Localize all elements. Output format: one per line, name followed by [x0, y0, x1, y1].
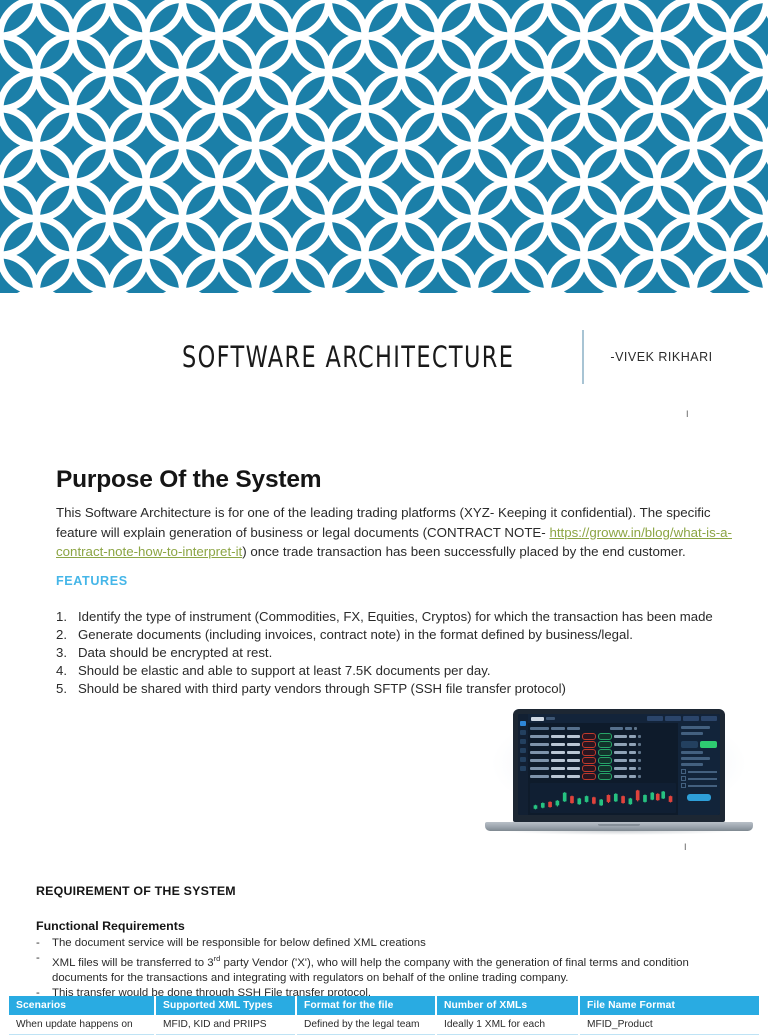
- list-item-text: Should be elastic and able to support at…: [78, 662, 491, 679]
- cell-instrument: [530, 767, 549, 770]
- table-row: When update happens on MFID, KID and PRI…: [9, 1015, 759, 1035]
- scenarios-table: Scenarios Supported XML Types Format for…: [9, 996, 759, 1035]
- cell-scenarios: When update happens on: [9, 1015, 155, 1035]
- cell-change: [629, 743, 636, 746]
- cell-ask: [567, 743, 580, 746]
- rail-icon-markets: [520, 730, 526, 735]
- cell-change: [629, 759, 636, 762]
- buy-button[interactable]: [700, 741, 717, 748]
- sell-pill[interactable]: [582, 749, 596, 756]
- cell-menu: [638, 743, 641, 746]
- quote-balance-4: [701, 716, 717, 721]
- laptop-screen: [518, 714, 720, 815]
- price-label: [681, 732, 703, 735]
- sell-pill[interactable]: [582, 741, 596, 748]
- list-item: 2. Generate documents (including invoice…: [56, 626, 736, 643]
- cell-last: [614, 751, 627, 754]
- checkbox-label: [688, 778, 717, 780]
- list-item-text: Identify the type of instrument (Commodi…: [78, 608, 713, 625]
- cell-ask: [567, 759, 580, 762]
- app-icon-rail: [518, 714, 528, 815]
- table-header-row: Scenarios Supported XML Types Format for…: [9, 996, 759, 1015]
- circle-lattice-pattern: [0, 0, 768, 293]
- place-order-button[interactable]: [687, 794, 710, 801]
- checkbox-partial-fill[interactable]: [681, 783, 717, 788]
- quote-balance-1: [647, 716, 663, 721]
- quote-balance-3: [683, 716, 699, 721]
- quote-balance-2: [665, 716, 681, 721]
- list-item-bullet: -: [36, 936, 52, 951]
- buy-pill[interactable]: [598, 765, 612, 772]
- list-item-number: 1.: [56, 608, 78, 625]
- sell-pill[interactable]: [582, 765, 596, 772]
- buy-pill[interactable]: [598, 741, 612, 748]
- list-item: 1. Identify the type of instrument (Comm…: [56, 608, 736, 625]
- cell-bid: [551, 767, 565, 770]
- buy-pill[interactable]: [598, 733, 612, 740]
- app-main-area: [528, 714, 720, 815]
- cell-bid: [551, 759, 565, 762]
- take-profit-label: [681, 763, 703, 766]
- page-tick-mark-bottom: I: [684, 843, 687, 852]
- rail-icon-dashboard: [520, 721, 526, 726]
- purpose-paragraph: This Software Architecture is for one of…: [56, 503, 732, 562]
- checkbox-box: [681, 776, 686, 781]
- instruments-table: [528, 723, 678, 781]
- candlestick-chart: [530, 783, 676, 813]
- author-byline: -VIVEK RIKHARI: [610, 350, 712, 364]
- cell-file-name-format: MFID_Product: [579, 1015, 759, 1035]
- cell-instrument: [530, 759, 549, 762]
- laptop-lid: [513, 709, 725, 822]
- list-item-text: Generate documents (including invoices, …: [78, 626, 633, 643]
- col-last: [610, 727, 623, 730]
- list-item: 4. Should be elastic and able to support…: [56, 662, 736, 679]
- purpose-heading: Purpose Of the System: [56, 466, 321, 494]
- checkbox-label: [688, 771, 717, 773]
- cell-bid: [551, 751, 565, 754]
- features-heading: FEATURES: [56, 574, 128, 588]
- cell-instrument: [530, 743, 549, 746]
- cell-last: [614, 767, 627, 770]
- checkbox-label: [688, 785, 717, 787]
- cell-menu: [638, 751, 641, 754]
- cell-instrument: [530, 751, 549, 754]
- table-header-row: [530, 725, 676, 732]
- list-item-text: The document service will be responsible…: [52, 936, 726, 951]
- table-row: [530, 749, 676, 756]
- cell-instrument: [530, 775, 549, 778]
- laptop-trading-platform-illustration: [477, 703, 761, 843]
- col-change: [625, 727, 632, 730]
- table-column-header-supported-xml-types: Supported XML Types: [155, 996, 296, 1015]
- cell-change: [629, 735, 636, 738]
- cell-change: [629, 751, 636, 754]
- cell-change: [629, 767, 636, 770]
- app-logo: [531, 717, 544, 721]
- app-top-bar: [528, 714, 720, 723]
- functional-requirements-list: - The document service will be responsib…: [36, 936, 726, 1002]
- purpose-text-after-link: ) once trade transaction has been succes…: [242, 544, 686, 559]
- rail-icon-orders: [520, 739, 526, 744]
- checkbox-box: [681, 783, 686, 788]
- cell-last: [614, 735, 627, 738]
- list-item-number: 4.: [56, 662, 78, 679]
- sell-pill[interactable]: [582, 773, 596, 780]
- rail-icon-reports: [520, 757, 526, 762]
- list-item-bullet: -: [36, 951, 52, 966]
- table-column-header-file-name-format: File Name Format: [579, 996, 759, 1015]
- cell-menu: [638, 759, 641, 762]
- page-title: SOFTWARE ARCHITECTURE: [182, 340, 514, 374]
- table-row: [530, 765, 676, 772]
- checkbox-box: [681, 769, 686, 774]
- requirement-heading: REQUIREMENT OF THE SYSTEM: [36, 884, 236, 898]
- list-item: 5. Should be shared with third party ven…: [56, 680, 736, 697]
- cell-change: [629, 775, 636, 778]
- table-row: [530, 733, 676, 740]
- table-row: [530, 741, 676, 748]
- checkbox-trailing-stop[interactable]: [681, 769, 717, 774]
- cell-supported-xml-types: MFID, KID and PRIIPS: [155, 1015, 296, 1035]
- cell-last: [614, 759, 627, 762]
- list-item-number: 5.: [56, 680, 78, 697]
- cell-menu: [638, 775, 641, 778]
- laptop-base: [485, 822, 753, 831]
- features-list: 1. Identify the type of instrument (Comm…: [56, 608, 736, 697]
- col-bid: [551, 727, 565, 730]
- page-tick-mark-top: I: [686, 410, 689, 419]
- list-item-number: 2.: [56, 626, 78, 643]
- text-before-superscript: XML files will be transferred to 3: [52, 957, 214, 969]
- title-block: SOFTWARE ARCHITECTURE -VIVEK RIKHARI: [0, 330, 768, 384]
- list-item-text: XML files will be transferred to 3rd par…: [52, 951, 726, 986]
- cell-ask: [567, 751, 580, 754]
- buy-pill[interactable]: [598, 773, 612, 780]
- table-row: [530, 757, 676, 764]
- cell-ask: [567, 775, 580, 778]
- list-item-number: 3.: [56, 644, 78, 661]
- cell-menu: [638, 767, 641, 770]
- rail-icon-portfolio: [520, 748, 526, 753]
- list-item-text: Data should be encrypted at rest.: [78, 644, 272, 661]
- cell-menu: [638, 735, 641, 738]
- table-row: [530, 773, 676, 780]
- cell-number-of-xmls: Ideally 1 XML for each: [436, 1015, 579, 1035]
- cell-last: [614, 743, 627, 746]
- buy-pill[interactable]: [598, 757, 612, 764]
- app-tagline: [546, 717, 555, 720]
- laptop-shadow: [503, 831, 735, 835]
- cell-ask: [567, 735, 580, 738]
- cell-format-for-the-file: Defined by the legal team: [296, 1015, 436, 1035]
- table-column-header-format-for-the-file: Format for the file: [296, 996, 436, 1015]
- cell-instrument: [530, 735, 549, 738]
- title-divider: [582, 330, 584, 384]
- volume-label: [681, 751, 703, 754]
- cell-last: [614, 775, 627, 778]
- laptop-trackpad-notch: [598, 824, 640, 826]
- col-ask: [567, 727, 580, 730]
- checkbox-expiry[interactable]: [681, 776, 717, 781]
- decorative-banner: [0, 0, 768, 293]
- rail-icon-settings: [520, 766, 526, 771]
- table-column-header-number-of-xmls: Number of XMLs: [436, 996, 579, 1015]
- stop-loss-label: [681, 757, 710, 760]
- list-item: - The document service will be responsib…: [36, 936, 726, 951]
- buy-pill[interactable]: [598, 749, 612, 756]
- order-entry-panel: [678, 723, 720, 815]
- list-item: 3. Data should be encrypted at rest.: [56, 644, 736, 661]
- col-instrument: [530, 727, 549, 730]
- sell-pill[interactable]: [582, 733, 596, 740]
- functional-requirements-heading: Functional Requirements: [36, 919, 185, 933]
- sell-pill[interactable]: [582, 757, 596, 764]
- col-menu: [634, 727, 637, 730]
- table-column-header-scenarios: Scenarios: [9, 996, 155, 1015]
- cell-bid: [551, 775, 565, 778]
- cell-bid: [551, 743, 565, 746]
- sell-button[interactable]: [681, 741, 698, 748]
- app-left-column: [528, 723, 678, 815]
- cell-bid: [551, 735, 565, 738]
- list-item: - XML files will be transferred to 3rd p…: [36, 951, 726, 986]
- cell-ask: [567, 767, 580, 770]
- symbol-label: [681, 726, 710, 729]
- list-item-text: Should be shared with third party vendor…: [78, 680, 566, 697]
- app-body: [528, 723, 720, 815]
